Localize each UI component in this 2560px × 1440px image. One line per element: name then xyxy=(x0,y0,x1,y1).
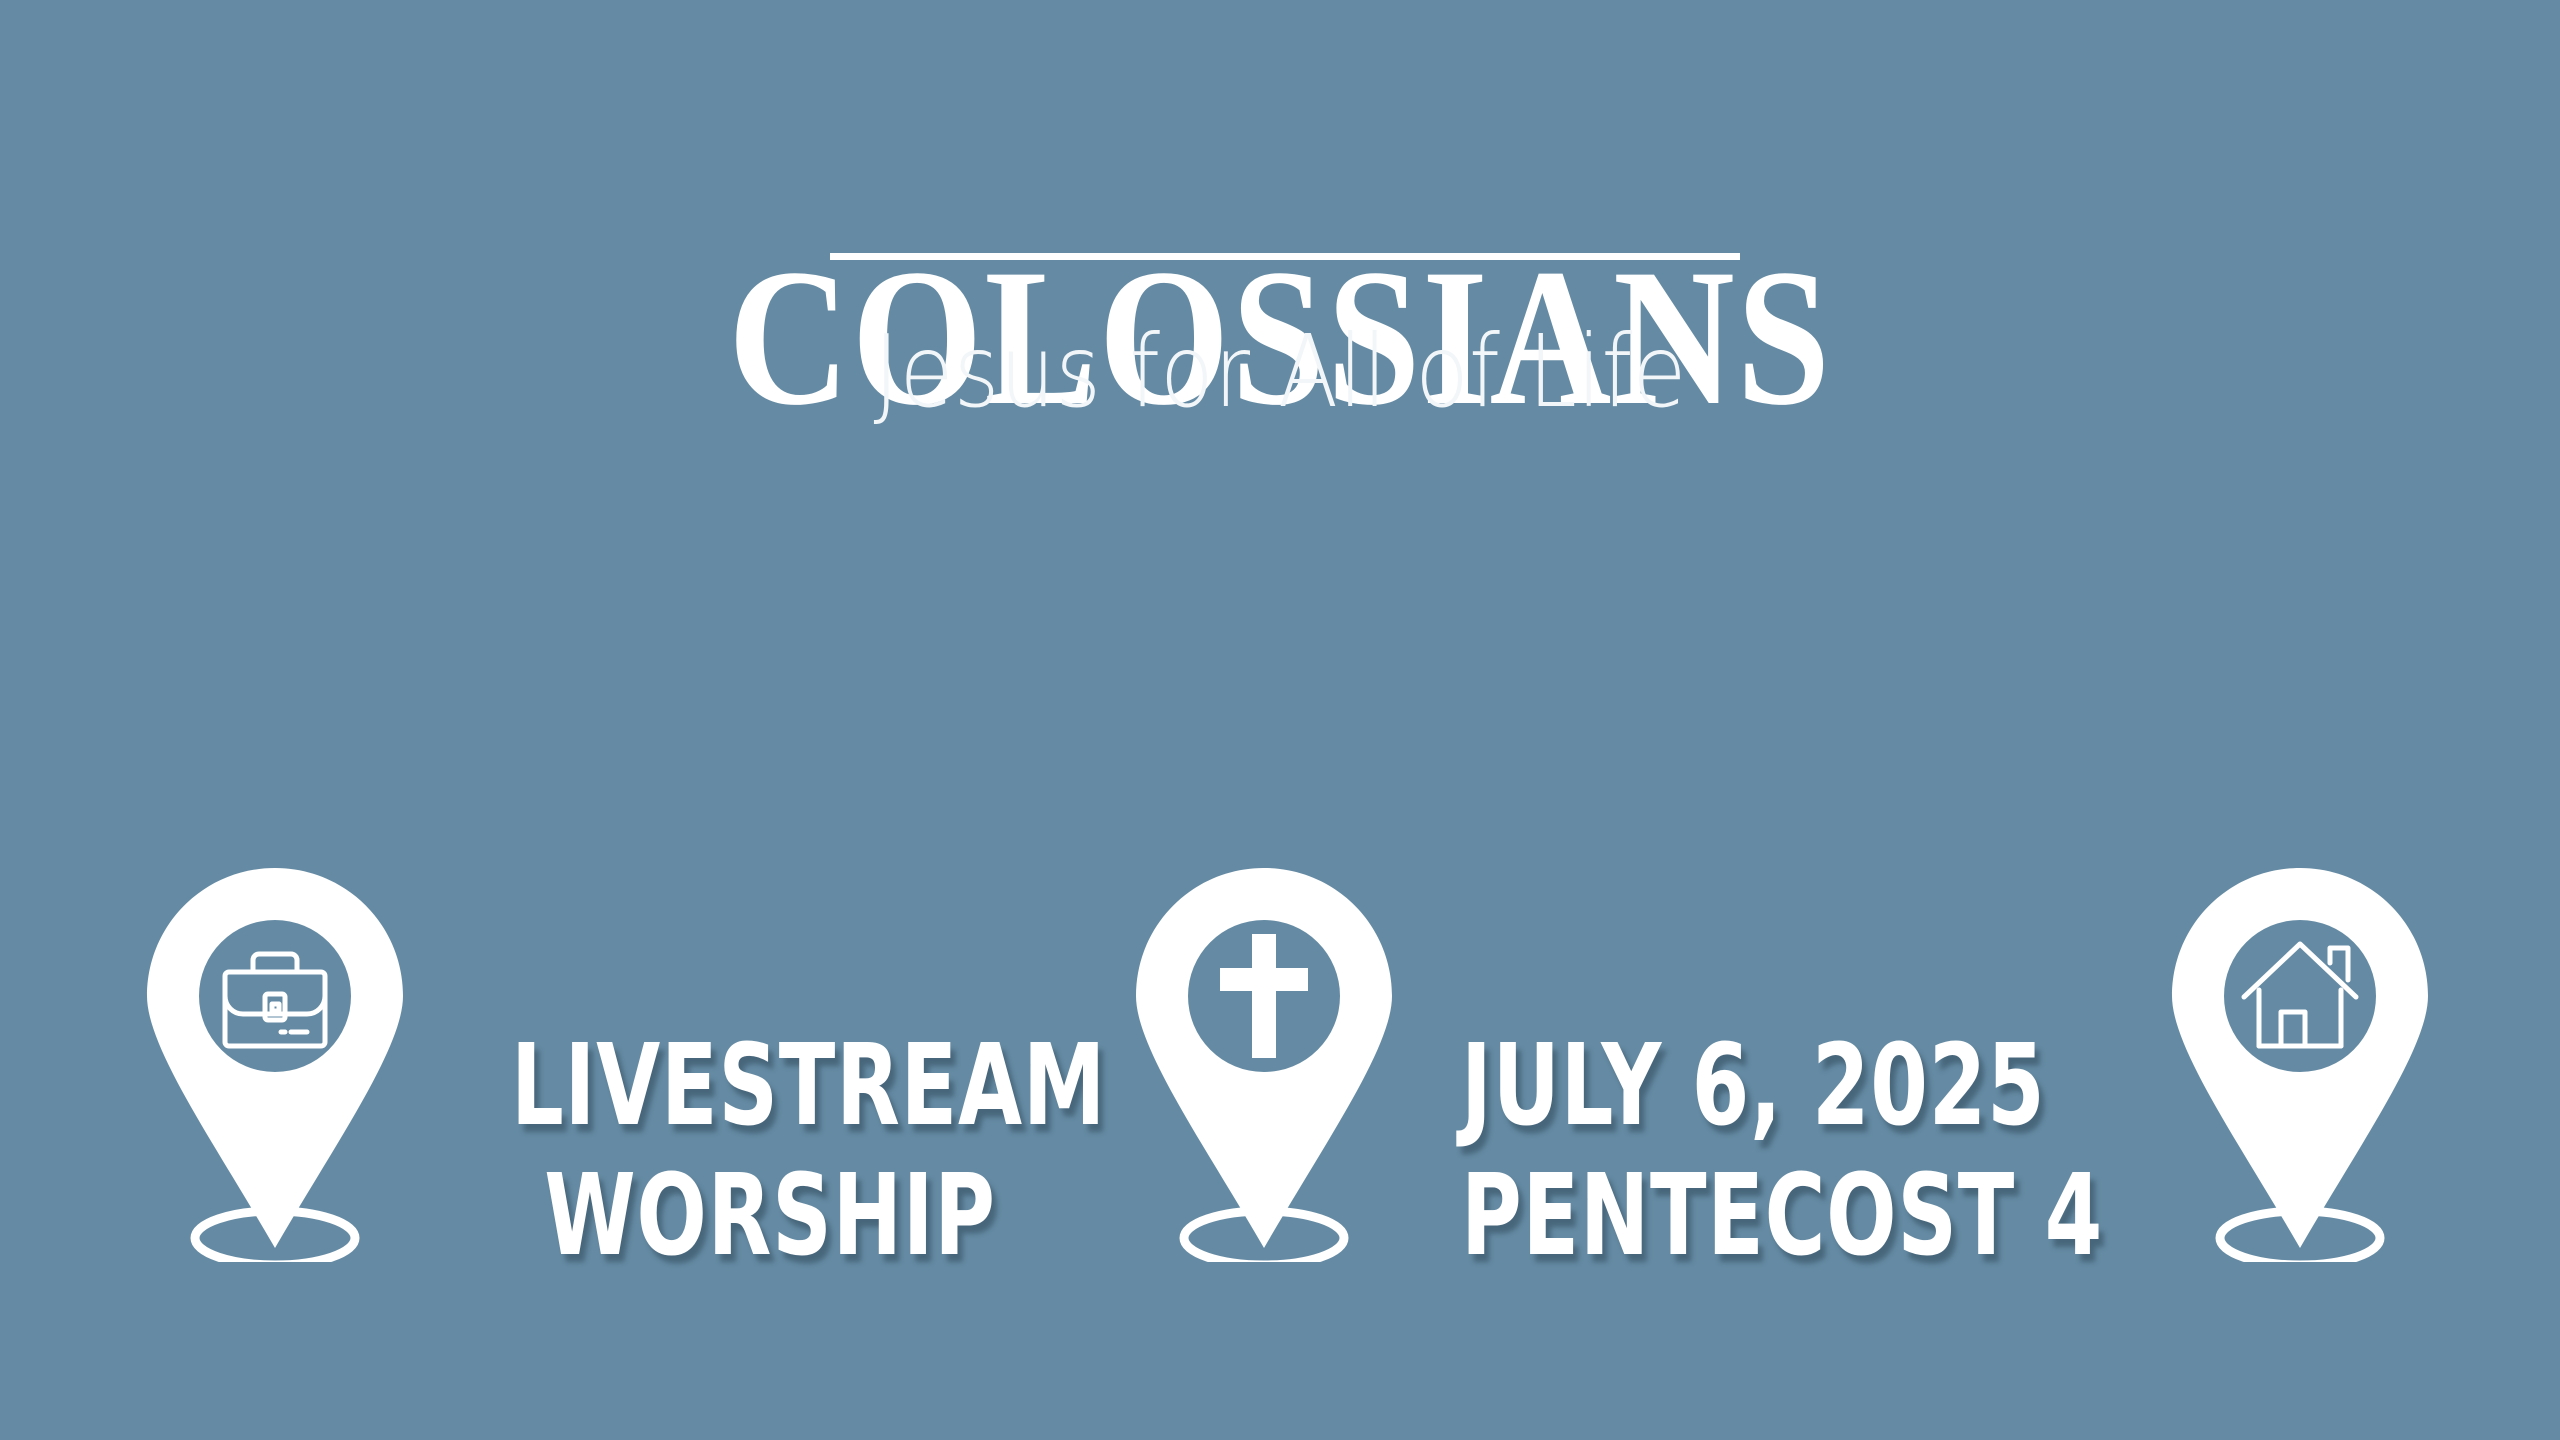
series-subtitle: Jesus for All of Life xyxy=(154,322,2407,422)
map-pin-worship xyxy=(1130,862,1398,1262)
title-divider xyxy=(830,253,1740,260)
sermon-title-slide: COLOSSIANS Jesus for All of Life xyxy=(0,0,2560,1440)
date-label-line1: JULY 6, 2025 xyxy=(1461,1022,1979,1152)
pin-body xyxy=(147,868,403,1248)
date-label: JULY 6, 2025 PENTECOST 4 xyxy=(1370,1022,2070,1282)
service-label-line2: WORSHIP xyxy=(511,1152,1029,1282)
service-label: LIVESTREAM WORSHIP xyxy=(420,1022,1120,1282)
service-label-line1: LIVESTREAM xyxy=(511,1022,1029,1152)
map-pin-work xyxy=(141,862,409,1262)
map-pin-home xyxy=(2166,862,2434,1262)
pin-body xyxy=(2172,868,2428,1248)
date-label-line2: PENTECOST 4 xyxy=(1461,1152,1979,1282)
